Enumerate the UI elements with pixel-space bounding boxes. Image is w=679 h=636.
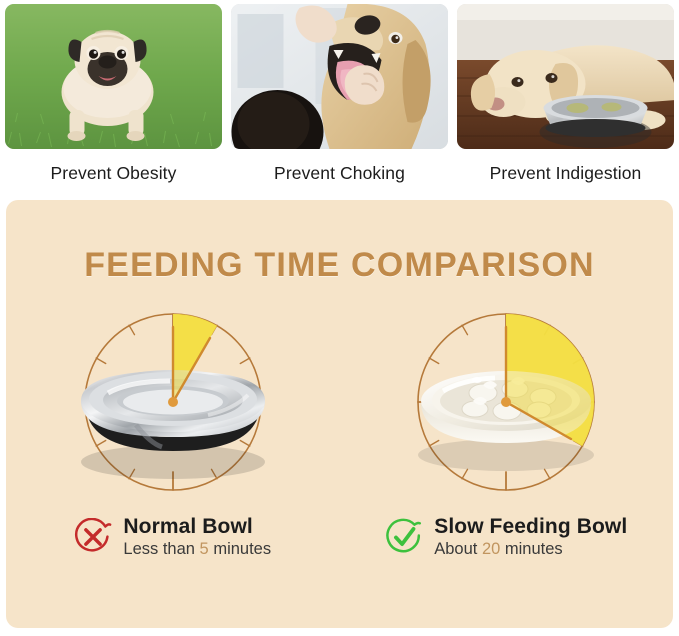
comparison-row: Normal Bowl Less than 5 minutes <box>6 297 673 559</box>
comparison-column-normal-bowl: Normal Bowl Less than 5 minutes <box>6 297 340 559</box>
dial-normal-bowl <box>58 297 288 509</box>
benefit-caption: Prevent Indigestion <box>490 163 642 184</box>
result-title: Slow Feeding Bowl <box>434 515 627 539</box>
comparison-column-slow-feeding-bowl: Slow Feeding Bowl About 20 minutes <box>340 297 674 559</box>
photo-overweight-pug-on-grass <box>5 4 222 149</box>
result-text: Normal Bowl Less than 5 minutes <box>123 515 271 559</box>
benefit-item: Prevent Indigestion <box>457 4 674 184</box>
result-sub-number: 5 <box>200 540 209 558</box>
dial-slow-feeding-bowl <box>391 297 621 509</box>
result-slow-feeding-bowl: Slow Feeding Bowl About 20 minutes <box>385 515 627 559</box>
benefit-caption: Prevent Obesity <box>51 163 177 184</box>
benefit-caption: Prevent Choking <box>274 163 405 184</box>
benefits-strip: Prevent Obesity <box>0 0 679 184</box>
cross-circle-icon <box>74 518 112 556</box>
result-subtitle: About 20 minutes <box>434 539 627 559</box>
result-sub-prefix: About <box>434 540 482 558</box>
result-sub-number: 20 <box>482 540 500 558</box>
photo-labrador-lying-by-bowl <box>457 4 674 149</box>
result-text: Slow Feeding Bowl About 20 minutes <box>434 515 627 559</box>
check-circle-icon <box>385 518 423 556</box>
result-normal-bowl: Normal Bowl Less than 5 minutes <box>74 515 271 559</box>
result-sub-suffix: minutes <box>209 540 271 558</box>
benefit-item: Prevent Choking <box>231 4 448 184</box>
benefit-item: Prevent Obesity <box>5 4 222 184</box>
result-sub-suffix: minutes <box>500 540 562 558</box>
panel-title: FEEDING TIME COMPARISON <box>6 246 673 285</box>
result-subtitle: Less than 5 minutes <box>123 539 271 559</box>
photo-golden-retriever-mouth-check <box>231 4 448 149</box>
result-sub-prefix: Less than <box>123 540 199 558</box>
feeding-time-comparison-panel: FEEDING TIME COMPARISON <box>6 200 673 628</box>
result-title: Normal Bowl <box>123 515 271 539</box>
